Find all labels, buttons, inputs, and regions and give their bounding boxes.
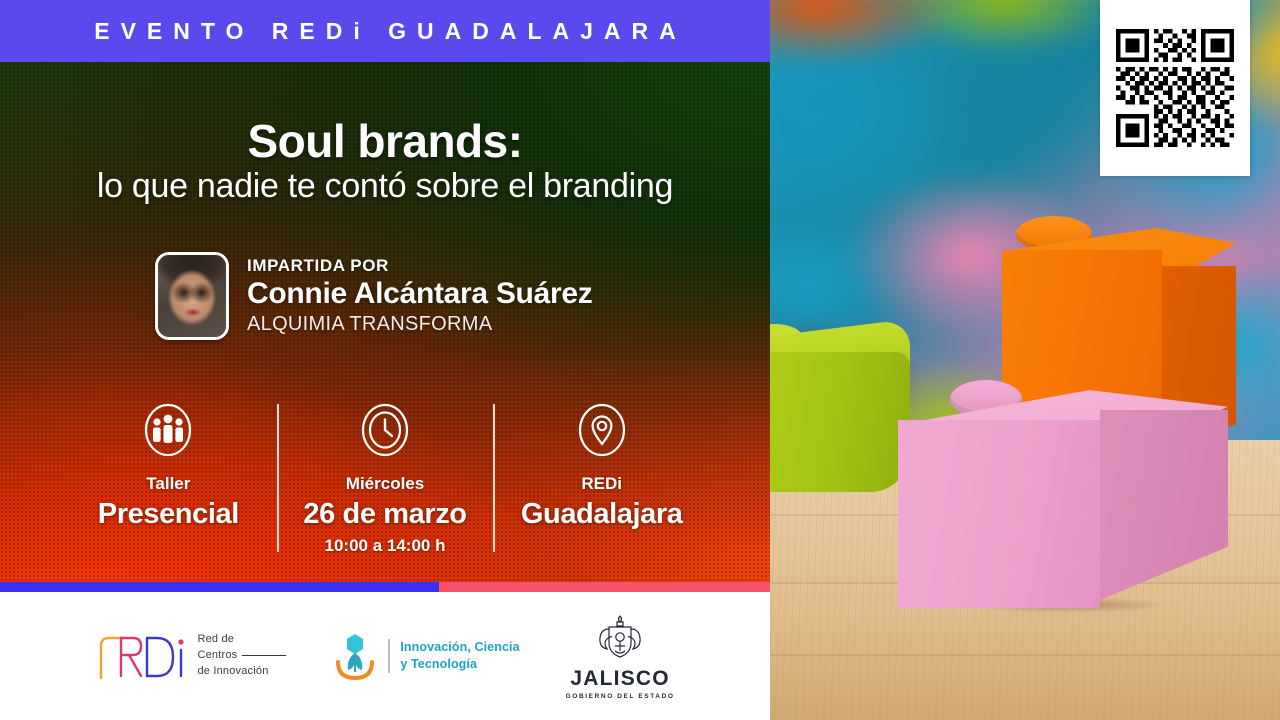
info-column-location: REDi Guadalajara xyxy=(493,402,710,531)
event-banner: EVENTO REDi GUADALAJARA xyxy=(0,0,770,62)
info-column-modality: Taller Presencial xyxy=(60,402,277,531)
ict-line-2: y Tecnología xyxy=(400,656,519,673)
logo-innovacion-ciencia-tecnologia: Innovación, Ciencia y Tecnología xyxy=(332,630,519,682)
speaker-block: IMPARTIDA POR Connie Alcántara Suárez AL… xyxy=(155,252,592,340)
poster-gradient-body: Soul brands: lo que nadie te contó sobre… xyxy=(0,62,770,582)
brick-side-face xyxy=(1100,410,1228,600)
info-small-date: Miércoles xyxy=(346,474,424,494)
event-banner-label: EVENTO REDi GUADALAJARA xyxy=(83,18,687,45)
redi-logo-icon xyxy=(95,630,187,682)
speaker-name: Connie Alcántara Suárez xyxy=(247,278,592,310)
wood-grain-line xyxy=(770,654,1280,656)
avatar-photo xyxy=(158,255,226,337)
event-poster: EVENTO REDi GUADALAJARA Soul brands: lo … xyxy=(0,0,770,720)
info-small-location: REDi xyxy=(581,474,622,494)
info-big-location: Guadalajara xyxy=(521,498,683,531)
info-small-modality: Taller xyxy=(146,474,190,494)
logo-jalisco: JALISCO GOBIERNO DEL ESTADO xyxy=(566,613,675,700)
pink-lego-brick xyxy=(898,368,1228,618)
redi-line-2: Centros xyxy=(197,649,237,661)
ict-logo-text: Innovación, Ciencia y Tecnología xyxy=(400,639,519,673)
clock-icon xyxy=(359,402,411,458)
ict-divider xyxy=(388,639,390,673)
jalisco-coat-of-arms-icon xyxy=(593,613,647,665)
redi-logo-text: Red de Centros de Innovación xyxy=(197,632,286,680)
divider-segment-blue xyxy=(0,582,439,592)
lego-bricks-photo xyxy=(770,0,1280,720)
innovacion-ciencia-tecnologia-icon xyxy=(332,630,378,682)
info-column-date: Miércoles 26 de marzo 10:00 a 14:00 h xyxy=(277,402,494,556)
speaker-organization: ALQUIMIA TRANSFORMA xyxy=(247,314,592,335)
ict-line-1: Innovación, Ciencia xyxy=(400,639,519,656)
avatar xyxy=(155,252,229,340)
redi-line-3: de Innovación xyxy=(197,664,286,680)
brick-body xyxy=(770,352,910,492)
poster-footer: Red de Centros de Innovación xyxy=(0,592,770,720)
info-sub-time: 10:00 a 14:00 h xyxy=(325,536,446,556)
location-pin-icon xyxy=(576,402,628,458)
logo-redi: Red de Centros de Innovación xyxy=(95,630,286,682)
qr-code[interactable] xyxy=(1116,29,1234,147)
info-big-modality: Presencial xyxy=(98,498,239,531)
poster-screenshot: EVENTO REDi GUADALAJARA Soul brands: lo … xyxy=(0,0,1280,720)
redi-line-1: Red de xyxy=(197,632,286,648)
speaker-kicker: IMPARTIDA POR xyxy=(247,257,592,275)
jalisco-subtitle: GOBIERNO DEL ESTADO xyxy=(566,693,675,700)
divider-segment-pink xyxy=(439,582,770,592)
jalisco-name: JALISCO xyxy=(570,667,669,691)
info-big-date: 26 de marzo xyxy=(303,498,466,531)
poster-subtitle: lo que nadie te contó sobre el branding xyxy=(0,167,770,206)
green-lego-brick xyxy=(770,324,910,492)
qr-code-card[interactable] xyxy=(1100,0,1250,176)
brick-front-face xyxy=(898,420,1100,608)
poster-title: Soul brands: xyxy=(0,114,770,168)
event-info-row: Taller Presencial Miércoles 26 de marzo … xyxy=(60,402,710,556)
group-icon xyxy=(142,402,194,458)
speaker-text: IMPARTIDA POR Connie Alcántara Suárez AL… xyxy=(247,257,592,334)
redi-rule xyxy=(242,655,286,656)
divider-bar xyxy=(0,582,770,592)
